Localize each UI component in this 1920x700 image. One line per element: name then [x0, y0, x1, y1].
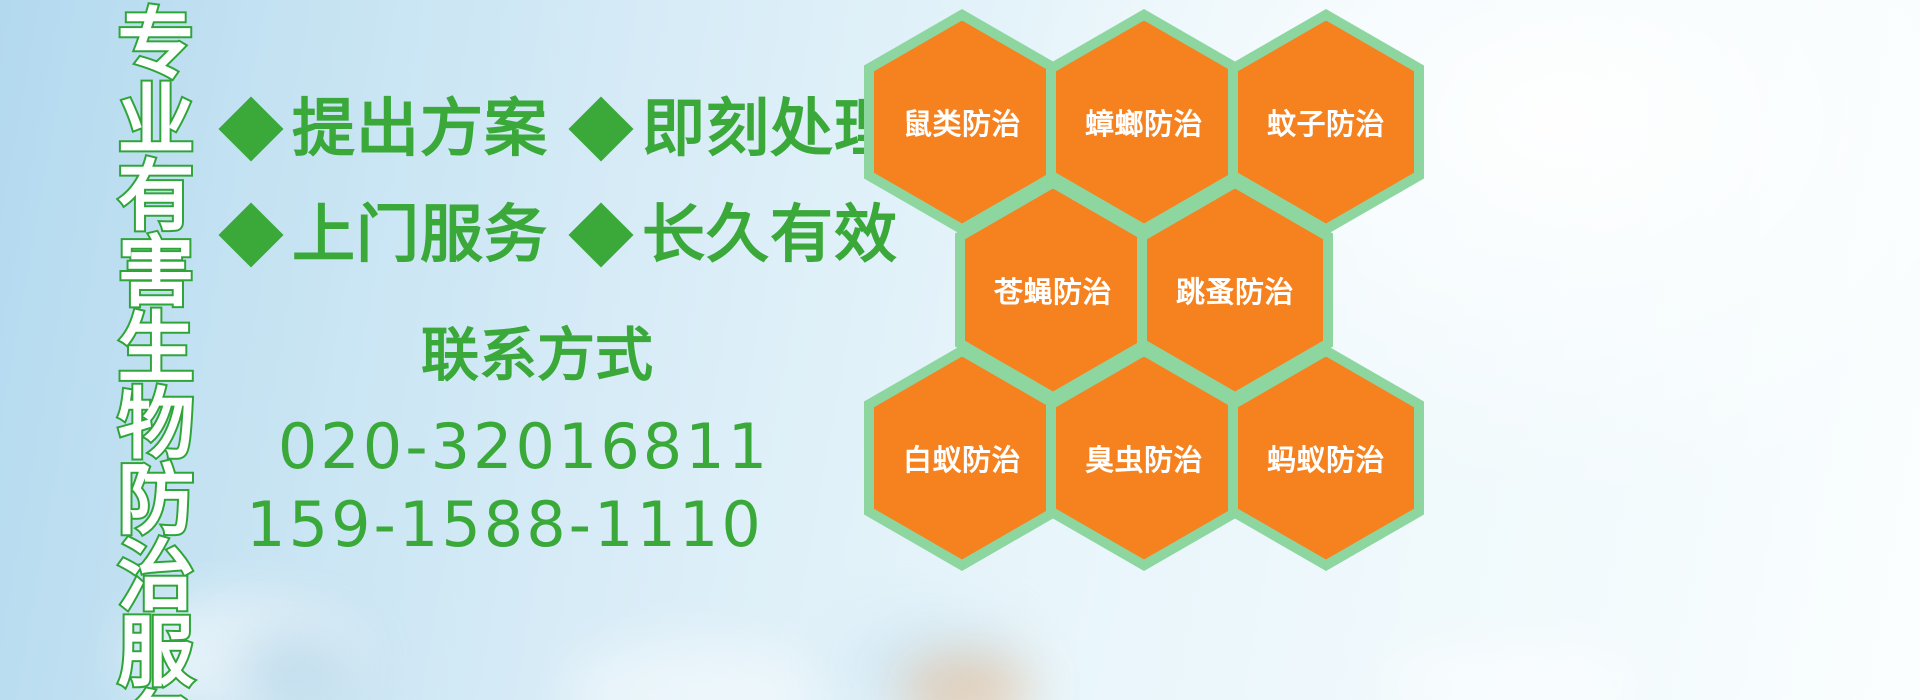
hex-label: 蚊子防治 — [1267, 101, 1385, 143]
hex-label: 苍蝇防治 — [994, 269, 1112, 311]
hex-inner: 苍蝇防治 — [965, 189, 1141, 392]
hex-inner: 蚂蚁防治 — [1238, 357, 1414, 560]
hex-label: 白蚁防治 — [903, 437, 1021, 479]
hex-label: 鼠类防治 — [903, 101, 1021, 143]
hex-inner: 鼠类防治 — [874, 21, 1050, 224]
hex-inner: 蟑螂防治 — [1056, 21, 1232, 224]
hex-inner: 跳蚤防治 — [1147, 189, 1323, 392]
hex-inner: 臭虫防治 — [1056, 357, 1232, 560]
pest-control-banner: 专 业 有 害 生 物 防 治 服 务 提出方案 即刻处理 上门服务 长久有效 — [0, 0, 1920, 700]
hex-label: 臭虫防治 — [1085, 437, 1203, 479]
service-honeycomb: 鼠类防治 蟑螂防治 蚊子防治 苍蝇防治 跳蚤防治 白蚁防治 — [0, 0, 1920, 700]
hex-inner: 白蚁防治 — [874, 357, 1050, 560]
hex-label: 蟑螂防治 — [1085, 101, 1203, 143]
hex-label: 蚂蚁防治 — [1267, 437, 1385, 479]
hex-inner: 蚊子防治 — [1238, 21, 1414, 224]
hex-label: 跳蚤防治 — [1176, 269, 1294, 311]
